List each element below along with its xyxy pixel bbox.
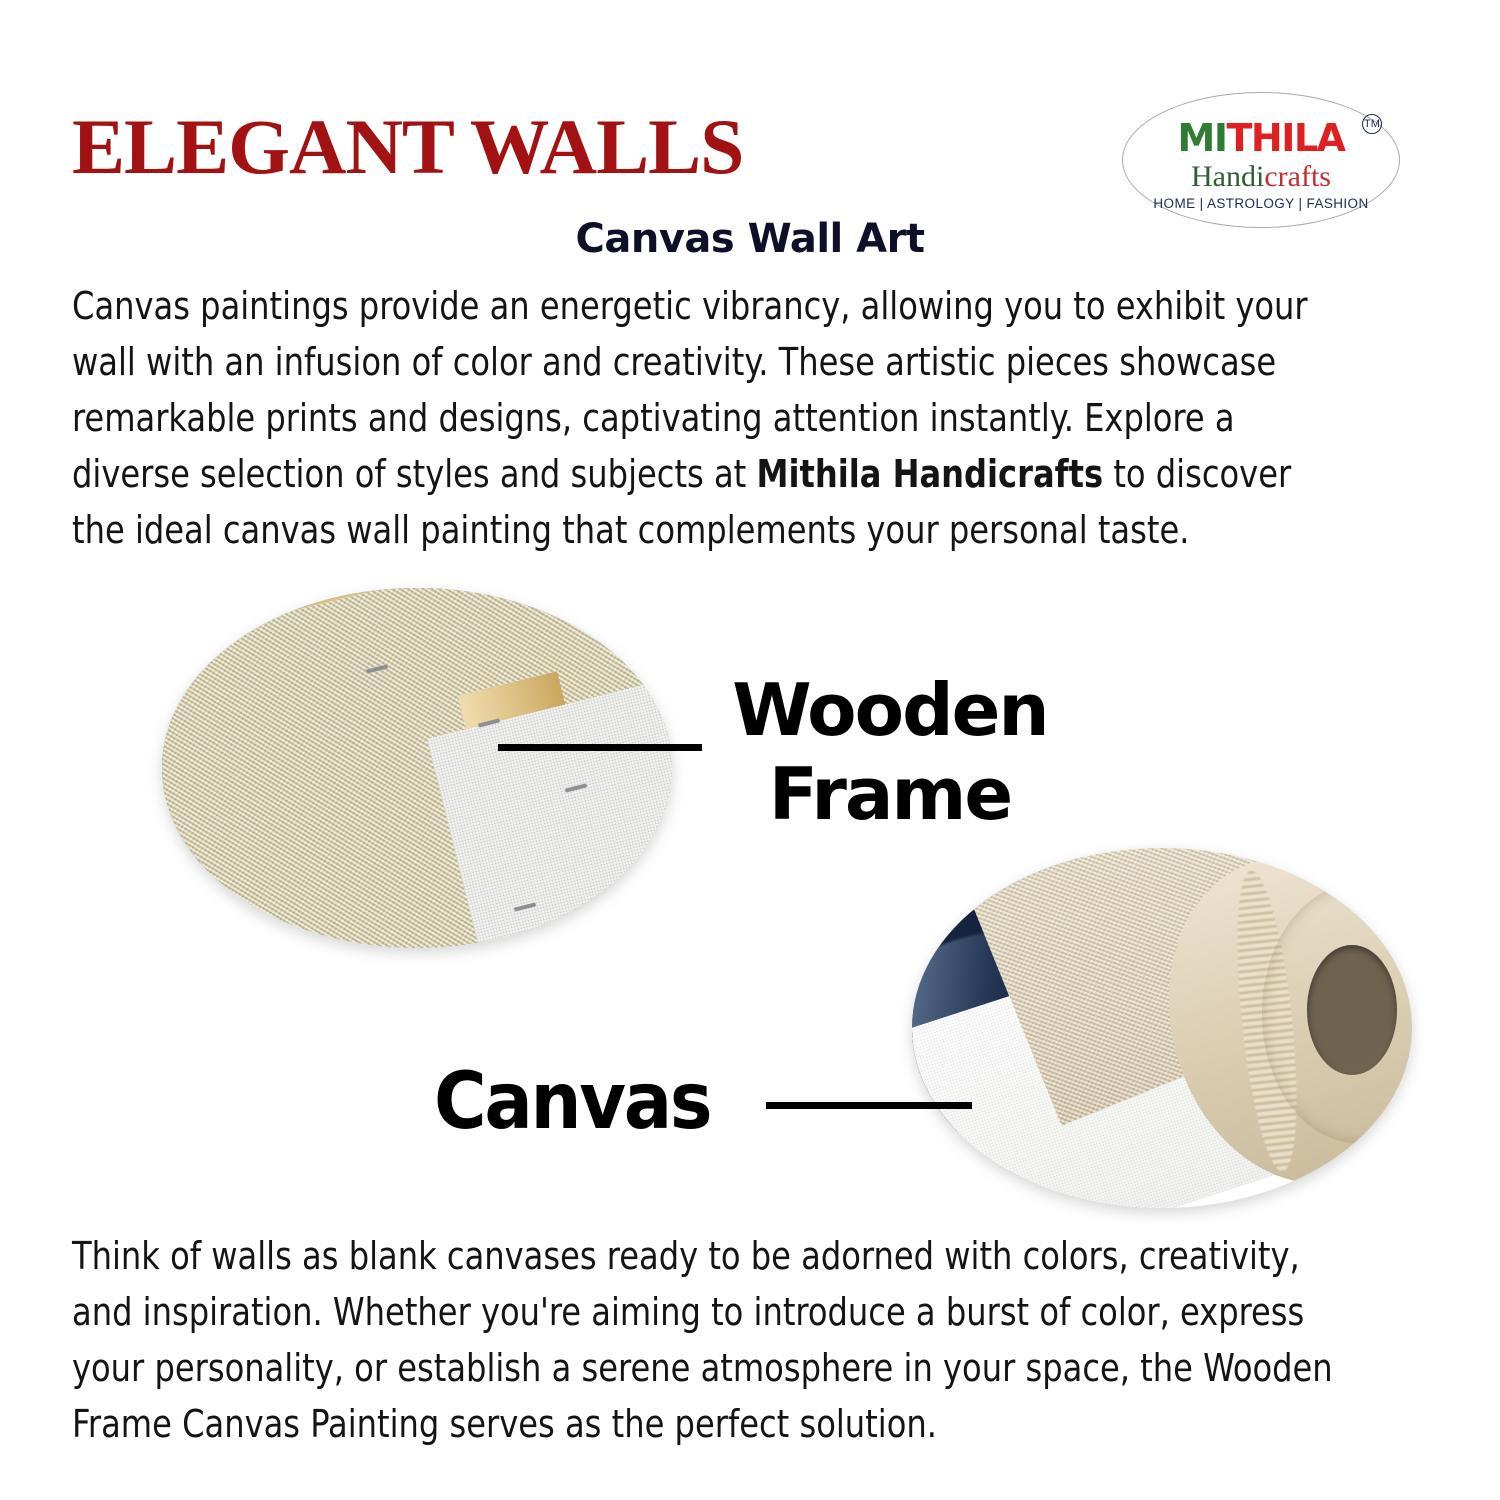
logo-wordmark-part2: THILA: [1226, 116, 1344, 160]
wooden-frame-photo: [162, 588, 672, 948]
wooden-frame-label: Wooden Frame: [700, 668, 1080, 836]
logo-tagline: HOME | ASTROLOGY | FASHION: [1122, 196, 1400, 211]
logo-wordmark: MITHILA: [1122, 119, 1400, 157]
logo-subtext: Handicrafts: [1122, 162, 1400, 192]
logo-subtext-part2: crafts: [1264, 160, 1331, 193]
brand-mention: Mithila Handicrafts: [756, 452, 1103, 496]
canvas-leader-line: [766, 1102, 972, 1109]
intro-paragraph: Canvas paintings provide an energetic vi…: [72, 278, 1347, 558]
page-subtitle: Canvas Wall Art: [0, 216, 1500, 262]
page-title: ELEGANT WALLS: [72, 108, 743, 186]
trademark-icon: TM: [1362, 114, 1382, 134]
canvas-roll-photo: [912, 848, 1412, 1208]
brand-logo: MITHILA TM Handicrafts HOME | ASTROLOGY …: [1122, 92, 1400, 228]
logo-subtext-part1: Handi: [1191, 160, 1264, 193]
canvas-label: Canvas: [434, 1058, 710, 1146]
cardboard-tube-core: [1307, 945, 1397, 1075]
logo-wordmark-part1: MI: [1178, 116, 1227, 160]
wooden-frame-leader-line: [498, 744, 702, 751]
closing-paragraph: Think of walls as blank canvases ready t…: [72, 1228, 1347, 1452]
